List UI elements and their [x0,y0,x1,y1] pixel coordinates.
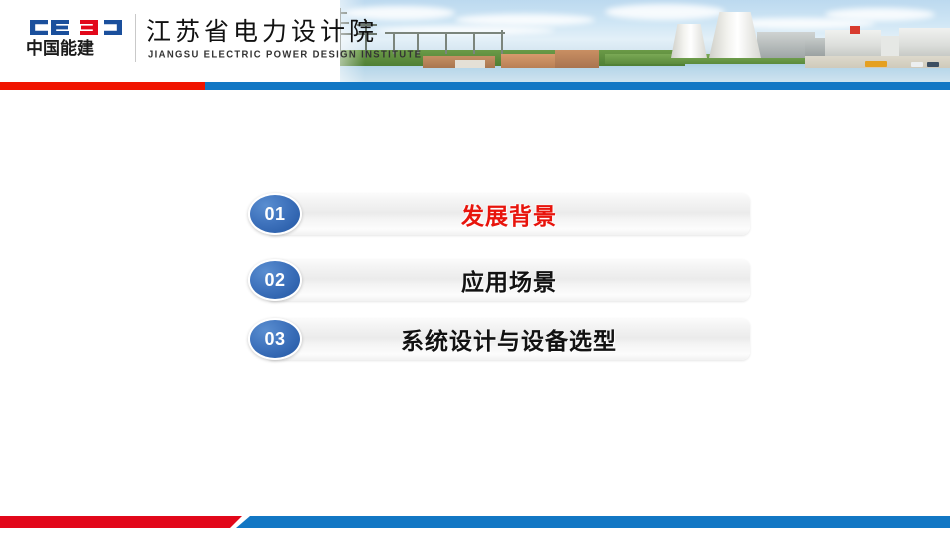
substation-structure [445,32,447,54]
slide-footer [0,516,950,535]
slide-header: 中国能建 江苏省电力设计院 JIANGSU ELECTRIC POWER DES… [0,0,950,82]
slide-content: 发展背景 01 应用场景 02 系统设计与设备选型 03 [0,90,950,510]
agenda-item-03[interactable]: 系统设计与设备选型 03 [248,318,750,360]
logo-divider [135,14,136,62]
bus-icon [865,61,887,67]
agenda-item-02[interactable]: 应用场景 02 [248,259,750,301]
footer-bar-red [0,516,242,528]
office-building [899,28,950,56]
cloud-icon [605,4,725,20]
agenda-number-badge: 02 [248,259,302,301]
plant-building [555,50,599,68]
header-rule-blue [205,82,950,90]
organization-name-cn: 江苏省电力设计院 [146,18,378,46]
cloud-icon [825,8,935,21]
car-icon [911,62,923,67]
agenda-title: 系统设计与设备选型 [268,318,750,360]
footer-bar-blue [236,516,950,528]
brand-logo-block: 中国能建 江苏省电力设计院 JIANGSU ELECTRIC POWER DES… [0,0,340,82]
company-name-cn: 中国能建 [26,40,126,59]
header-rule-red [0,82,205,90]
office-building [881,36,899,56]
substation-structure [473,32,475,54]
agenda-number-badge: 03 [248,318,302,360]
plant-building [455,60,485,68]
substation-structure [501,30,503,54]
office-building-accent [850,26,860,34]
cloud-icon [455,14,595,26]
car-icon [927,62,939,67]
agenda-title: 发展背景 [268,193,750,235]
power-plant-banner-photo [305,0,950,82]
organization-name-en: JIANGSU ELECTRIC POWER DESIGN INSTITUTE [148,49,422,61]
ceec-logo [28,17,124,38]
agenda-title: 应用场景 [268,259,750,301]
agenda-item-01[interactable]: 发展背景 01 [248,193,750,235]
agenda-number-badge: 01 [248,193,302,235]
